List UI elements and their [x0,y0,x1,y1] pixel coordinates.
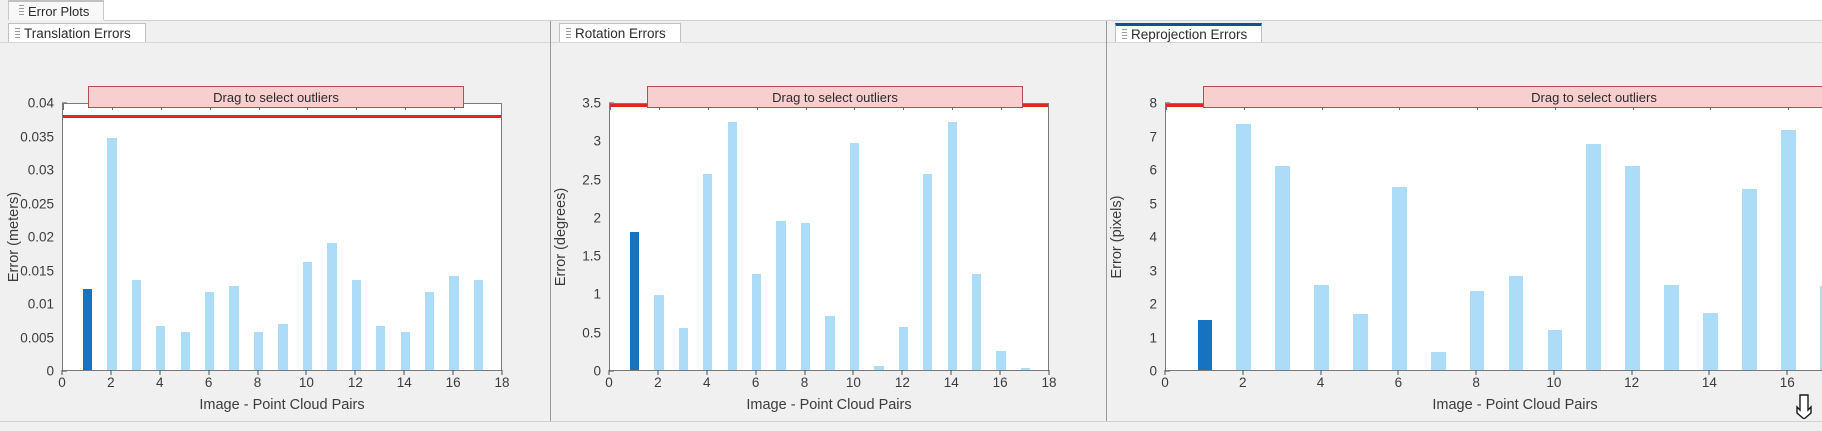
bar[interactable] [1664,285,1679,370]
y-tick-label: 0.5 [582,325,601,340]
y-tick-label: 0 [46,364,54,379]
x-axis-label: Image - Point Cloud Pairs [62,397,502,413]
document-tab-label: Error Plots [28,4,89,19]
x-tick-label: 0 [58,375,66,390]
bar[interactable] [254,332,263,370]
tab-reprojection-errors[interactable]: Reprojection Errors [1115,23,1262,43]
y-tick-label: 3 [593,134,601,149]
x-tick-label: 16 [446,375,461,390]
document-tabbar: Error Plots [0,0,1822,21]
y-tick-label: 1 [593,287,601,302]
bar[interactable] [1236,124,1251,370]
x-tick-label: 16 [993,375,1008,390]
x-tick-label: 4 [156,375,164,390]
y-tick-label: 1.5 [582,249,601,264]
x-tick-label: 12 [895,375,910,390]
bar[interactable] [728,122,737,370]
bar[interactable] [850,143,859,370]
x-tick-label: 14 [1702,375,1717,390]
y-tick-label: 2 [1149,297,1157,312]
bar[interactable] [776,221,785,370]
bar[interactable] [948,122,957,370]
bar[interactable] [630,232,639,370]
bar[interactable] [132,280,141,370]
y-tick-label: 0.04 [28,96,54,111]
x-tick-label: 12 [348,375,363,390]
panel-error-pixels: Reprojection ErrorsError (pixels)0123456… [1106,21,1822,421]
x-tick-label: 6 [205,375,213,390]
x-axis-label: Image - Point Cloud Pairs [609,397,1049,413]
bar[interactable] [752,274,761,370]
y-tick-label: 0.025 [20,196,54,211]
bar[interactable] [972,274,981,370]
x-tick-label: 0 [1161,375,1169,390]
y-tick-label: 4 [1149,230,1157,245]
x-tick-label: 18 [1041,375,1056,390]
drag-to-select-outliers-band[interactable]: Drag to select outliers [1203,86,1822,108]
plot-box[interactable] [62,103,502,371]
y-tick-label: 3 [1149,263,1157,278]
y-tick-label: 0.005 [20,330,54,345]
chart-area: Error (meters)00.0050.010.0150.020.0250.… [0,43,550,421]
y-axis-ticks: 00.511.522.533.5 [555,103,601,371]
y-tick-label: 0.01 [28,297,54,312]
y-tick-label: 8 [1149,96,1157,111]
top-tick-mark [63,104,64,110]
plot-box[interactable] [609,103,1049,371]
y-tick-label: 0.015 [20,263,54,278]
bar[interactable] [874,366,883,370]
y-axis-ticks: 012345678 [1121,103,1157,371]
bar[interactable] [278,324,287,370]
y-tick-label: 3.5 [582,96,601,111]
x-tick-label: 12 [1624,375,1639,390]
bar[interactable] [205,292,214,370]
y-tick-label: 2 [593,210,601,225]
bar[interactable] [107,138,116,370]
panel-tabbar: Translation Errors [0,21,550,43]
drag-to-select-outliers-band[interactable]: Drag to select outliers [88,86,464,108]
tab-rotation-errors[interactable]: Rotation Errors [559,23,681,43]
bar[interactable] [401,332,410,370]
bar[interactable] [327,243,336,370]
panel-error-meters: Translation ErrorsError (meters)00.0050.… [0,21,550,421]
bar[interactable] [1392,187,1407,370]
outlier-band-label: Drag to select outliers [213,90,339,105]
x-tick-label: 14 [944,375,959,390]
x-tick-label: 14 [397,375,412,390]
x-tick-label: 2 [107,375,115,390]
bar[interactable] [376,326,385,370]
plot-box[interactable] [1165,103,1822,371]
y-tick-label: 7 [1149,129,1157,144]
drag-grip-icon[interactable] [15,28,20,40]
bar[interactable] [1586,144,1601,370]
panel-error-degrees: Rotation ErrorsError (degrees)00.511.522… [550,21,1106,421]
x-tick-label: 10 [846,375,861,390]
bar[interactable] [1198,320,1213,370]
x-axis-label: Image - Point Cloud Pairs [1165,397,1822,413]
bar[interactable] [83,289,92,370]
panel-tabbar: Reprojection Errors [1107,21,1822,43]
y-tick-label: 0.035 [20,129,54,144]
bar[interactable] [1781,130,1796,370]
bar[interactable] [801,223,810,370]
bar[interactable] [1314,285,1329,370]
panel-tab-label: Reprojection Errors [1131,27,1247,42]
chart-area: Error (degrees)00.511.522.533.5Drag to s… [551,43,1106,421]
x-tick-label: 4 [1317,375,1325,390]
y-tick-label: 2.5 [582,172,601,187]
drag-grip-icon[interactable] [19,5,24,17]
y-axis-ticks: 00.0050.010.0150.020.0250.030.0350.04 [0,103,54,371]
x-tick-label: 4 [703,375,711,390]
bar[interactable] [1548,330,1563,370]
x-tick-label: 8 [1472,375,1480,390]
y-tick-label: 0 [1149,364,1157,379]
y-tick-label: 0 [593,364,601,379]
bar[interactable] [923,174,932,370]
tab-translation-errors[interactable]: Translation Errors [8,23,146,43]
x-tick-label: 8 [801,375,809,390]
x-tick-label: 8 [254,375,262,390]
chart-area: Error (pixels)012345678Drag to select ou… [1107,43,1822,421]
bar[interactable] [1431,352,1446,370]
x-tick-label: 6 [1395,375,1403,390]
drag-to-select-outliers-band[interactable]: Drag to select outliers [647,86,1023,108]
x-tick-label: 2 [654,375,662,390]
bar[interactable] [1470,291,1485,370]
bar[interactable] [303,262,312,370]
panel-tab-label: Translation Errors [24,26,131,41]
bar[interactable] [156,326,165,370]
x-tick-label: 6 [752,375,760,390]
bar[interactable] [474,280,483,370]
document-tab-error-plots[interactable]: Error Plots [8,0,104,20]
y-tick-label: 5 [1149,196,1157,211]
drag-grip-icon[interactable] [566,28,571,40]
outlier-band-label: Drag to select outliers [1531,90,1657,105]
y-tick-label: 0.02 [28,230,54,245]
bar[interactable] [679,328,688,370]
bar[interactable] [1275,166,1290,370]
bar[interactable] [996,351,1005,370]
drag-grip-icon[interactable] [1122,29,1127,41]
arrow-down-cursor [1796,393,1818,419]
x-tick-label: 2 [1239,375,1247,390]
y-tick-label: 6 [1149,163,1157,178]
bar[interactable] [181,332,190,370]
bar[interactable] [703,174,712,370]
x-tick-label: 10 [1546,375,1561,390]
x-tick-label: 10 [299,375,314,390]
bar[interactable] [1703,313,1718,370]
bar[interactable] [1742,189,1757,370]
bar[interactable] [1353,314,1368,370]
bar[interactable] [654,295,663,370]
bar[interactable] [1509,276,1524,370]
bar[interactable] [229,286,238,370]
bar[interactable] [1021,368,1030,370]
bar[interactable] [825,316,834,370]
error-plot-panels: Translation ErrorsError (meters)00.0050.… [0,21,1822,421]
x-tick-label: 0 [605,375,613,390]
panel-tabbar: Rotation Errors [551,21,1106,43]
x-tick-label: 16 [1780,375,1795,390]
bar[interactable] [899,327,908,370]
y-tick-label: 0.03 [28,163,54,178]
document-tabbar-filler [104,0,1822,21]
panel-tab-label: Rotation Errors [575,26,666,41]
bar[interactable] [449,276,458,370]
y-tick-label: 1 [1149,330,1157,345]
outlier-threshold-line[interactable] [63,115,502,118]
bar[interactable] [352,280,361,370]
x-tick-label: 18 [494,375,509,390]
bar[interactable] [425,292,434,370]
outlier-band-label: Drag to select outliers [772,90,898,105]
bar[interactable] [1625,166,1640,370]
